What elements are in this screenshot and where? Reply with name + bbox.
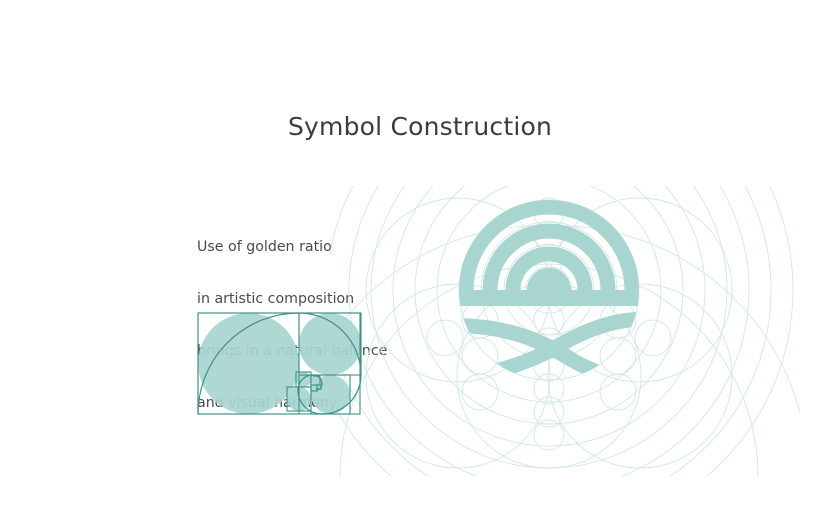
construction-circle — [534, 397, 564, 427]
symbol-construction-graphic — [330, 186, 800, 476]
emblem-group — [436, 207, 666, 395]
horizon-band — [440, 290, 660, 306]
inscribed-circle-a — [198, 313, 299, 414]
construction-circle — [427, 320, 463, 356]
construction-circle — [635, 320, 671, 356]
page-title: Symbol Construction — [0, 112, 840, 142]
golden-ratio-figure — [196, 311, 362, 417]
construction-circle — [534, 420, 564, 450]
inscribed-circle-e — [296, 372, 311, 387]
construction-circle — [462, 338, 498, 374]
construction-circle — [600, 338, 636, 374]
inscribed-circles-group — [198, 313, 361, 414]
slide-canvas: Symbol Construction Use of golden ratio … — [0, 0, 840, 506]
wave-bands-group — [436, 319, 666, 395]
construction-circle — [534, 305, 564, 335]
inscribed-circle-b — [299, 313, 361, 375]
